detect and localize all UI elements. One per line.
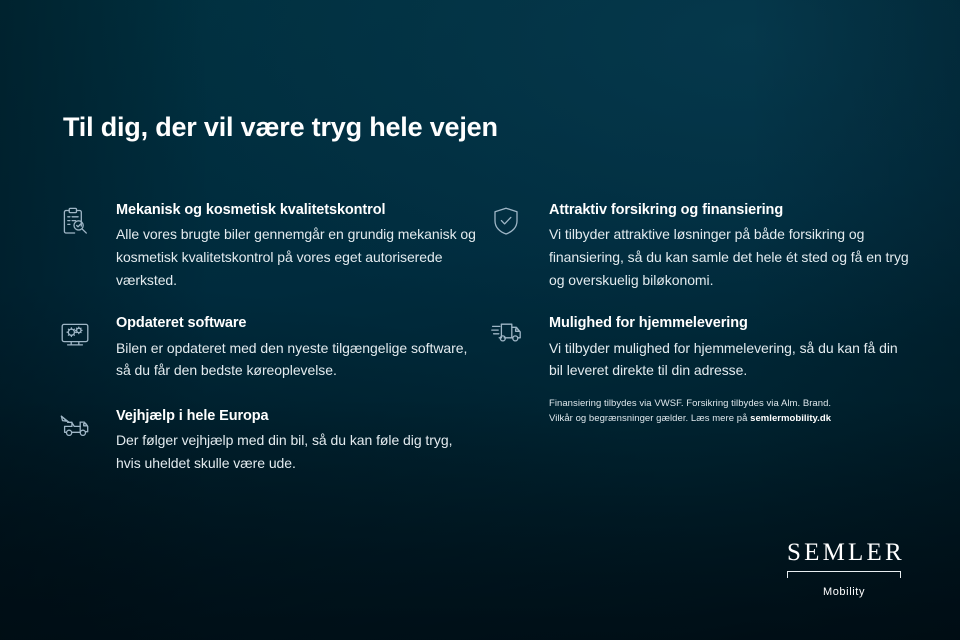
- fineprint-line-2-text: Vilkår og begrænsninger gælder. Læs mere…: [549, 413, 750, 424]
- feature-description: Der følger vejhjælp med din bil, så du k…: [116, 429, 479, 474]
- semlermobility-link[interactable]: semlermobility.dk: [750, 413, 831, 424]
- feature-title: Vejhjælp i hele Europa: [116, 406, 479, 426]
- feature-description: Alle vores brugte biler gennemgår en gru…: [116, 223, 479, 291]
- logo-wordmark: SEMLER: [784, 540, 904, 565]
- features-column-left: Mekanisk og kosmetisk kvalitetskontrol A…: [58, 200, 491, 493]
- logo-tick-right: [900, 571, 901, 578]
- feature-text: Attraktiv forsikring og finansiering Vi …: [549, 200, 924, 291]
- feature-updated-software: Opdateret software Bilen er opdateret me…: [58, 313, 491, 382]
- fineprint-line-2: Vilkår og begrænsninger gælder. Læs mere…: [549, 411, 849, 426]
- feature-title: Mulighed for hjemmelevering: [549, 313, 912, 333]
- feature-roadside-assistance: Vejhjælp i hele Europa Der følger vejhjæ…: [58, 406, 491, 475]
- feature-quality-control: Mekanisk og kosmetisk kvalitetskontrol A…: [58, 200, 491, 291]
- feature-description: Vi tilbyder attraktive løsninger på både…: [549, 223, 912, 291]
- monitor-gears-icon: [58, 313, 116, 352]
- slide-root: Til dig, der vil være tryg hele vejen: [0, 0, 960, 640]
- feature-title: Attraktiv forsikring og finansiering: [549, 200, 912, 220]
- fineprint-line-1: Finansiering tilbydes via VWSF. Forsikri…: [549, 396, 849, 411]
- feature-description: Bilen er opdateret med den nyeste tilgæn…: [116, 337, 479, 382]
- feature-text: Opdateret software Bilen er opdateret me…: [116, 313, 491, 382]
- semler-mobility-logo: SEMLER Mobility: [784, 540, 904, 598]
- features-column-right: Attraktiv forsikring og finansiering Vi …: [491, 200, 924, 493]
- logo-bracket-rule: [784, 571, 904, 581]
- feature-home-delivery: Mulighed for hjemmelevering Vi tilbyder …: [491, 313, 924, 382]
- feature-description: Vi tilbyder mulighed for hjemmelevering,…: [549, 337, 912, 382]
- feature-text: Vejhjælp i hele Europa Der følger vejhjæ…: [116, 406, 491, 475]
- feature-text: Mulighed for hjemmelevering Vi tilbyder …: [549, 313, 924, 382]
- fineprint-disclaimer: Finansiering tilbydes via VWSF. Forsikri…: [549, 396, 849, 427]
- feature-insurance-financing: Attraktiv forsikring og finansiering Vi …: [491, 200, 924, 291]
- feature-title: Mekanisk og kosmetisk kvalitetskontrol: [116, 200, 479, 220]
- logo-bar: [787, 571, 901, 572]
- features-grid: Mekanisk og kosmetisk kvalitetskontrol A…: [58, 200, 924, 493]
- feature-text: Mekanisk og kosmetisk kvalitetskontrol A…: [116, 200, 491, 291]
- feature-title: Opdateret software: [116, 313, 479, 333]
- shield-check-icon: [491, 200, 549, 237]
- page-title: Til dig, der vil være tryg hele vejen: [63, 112, 498, 143]
- tow-truck-icon: [58, 406, 116, 443]
- clipboard-magnifier-icon: [58, 200, 116, 239]
- logo-subtitle: Mobility: [784, 586, 904, 598]
- delivery-truck-icon: [491, 313, 549, 348]
- logo-tick-left: [787, 571, 788, 578]
